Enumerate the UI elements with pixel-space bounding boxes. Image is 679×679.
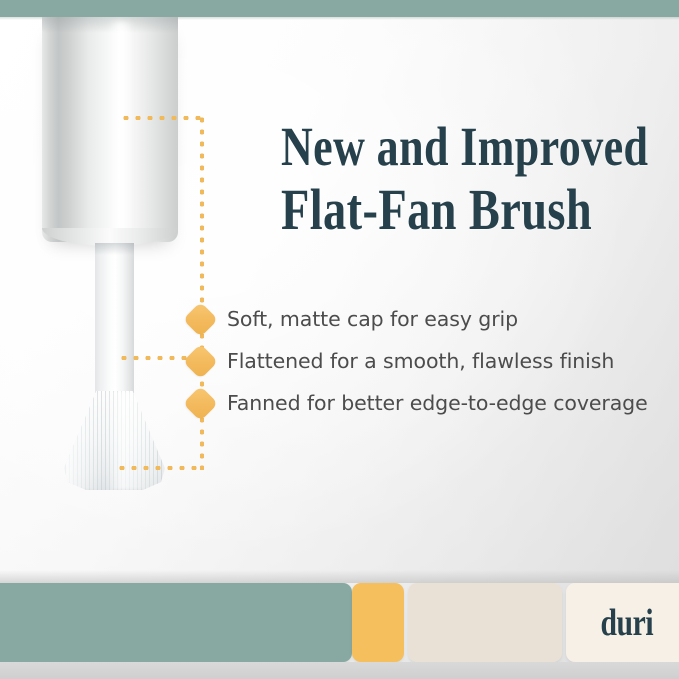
page-title: New and Improved Flat-Fan Brush	[281, 115, 585, 241]
feature-label: Flattened for a smooth, flawless finish	[227, 349, 614, 373]
list-item: Soft, matte cap for easy grip	[188, 298, 658, 340]
dotted-line-to-cap	[120, 116, 202, 120]
list-item: Fanned for better edge-to-edge coverage	[188, 382, 658, 424]
diamond-bullet-icon	[183, 385, 218, 420]
footer-teal-block	[0, 583, 352, 662]
diamond-bullet-icon	[183, 301, 218, 336]
feature-label: Soft, matte cap for easy grip	[227, 307, 518, 331]
feature-list: Soft, matte cap for easy grip Flattened …	[188, 298, 658, 424]
product-infographic: New and Improved Flat-Fan Brush Soft, ma…	[0, 0, 679, 679]
list-item: Flattened for a smooth, flawless finish	[188, 340, 658, 382]
brand-logo-text: duri	[601, 601, 654, 645]
brush-bristles-highlight	[64, 391, 165, 490]
footer-top-shadow	[0, 570, 679, 583]
footer-base-strip	[0, 662, 679, 679]
headline-line-2: Flat-Fan Brush	[281, 178, 585, 241]
dotted-line-to-bristles	[116, 466, 204, 470]
headline-line-1: New and Improved	[281, 115, 585, 178]
product-image	[0, 0, 240, 520]
brand-logo: duri	[566, 583, 679, 662]
brush-stem-icon	[95, 243, 134, 393]
footer-beige-block	[408, 583, 562, 662]
footer-amber-block	[352, 583, 404, 662]
feature-label: Fanned for better edge-to-edge coverage	[227, 391, 648, 415]
diamond-bullet-icon	[183, 343, 218, 378]
brush-stem-shadow	[95, 243, 134, 255]
cap-highlight	[108, 22, 134, 237]
